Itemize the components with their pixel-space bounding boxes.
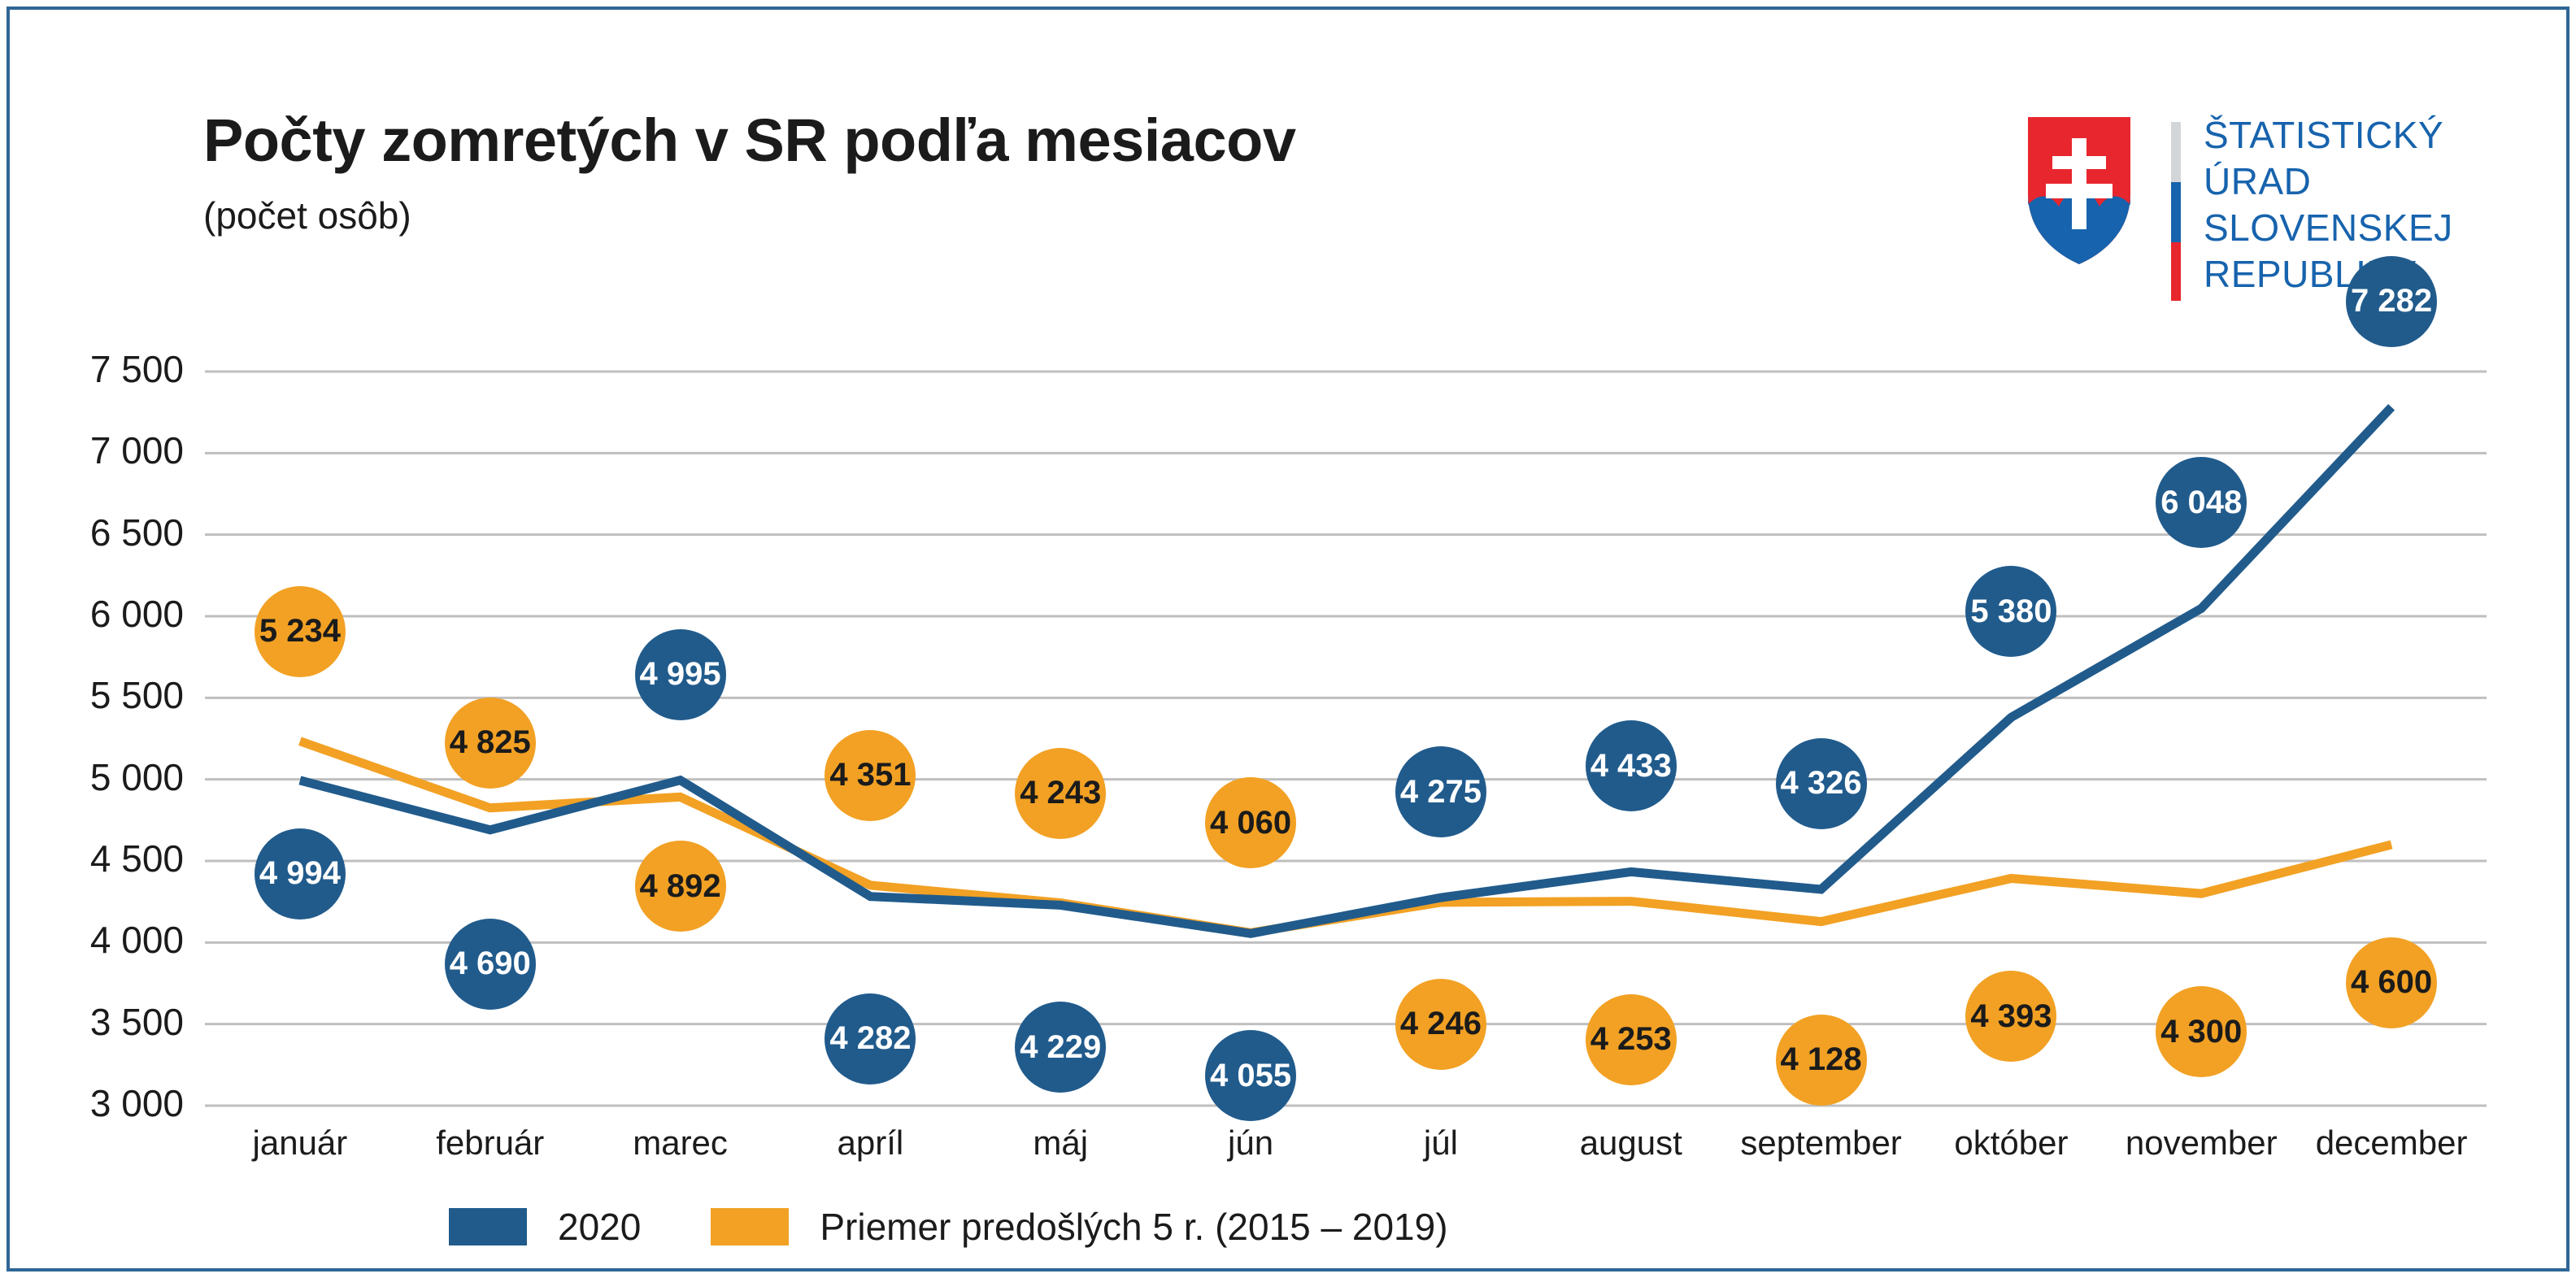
y-axis-tick-label: 5 500 [46, 673, 184, 717]
data-label-bubble: 6 048 [2156, 457, 2247, 548]
data-label-bubble: 4 825 [445, 698, 536, 789]
data-label-bubble: 4 351 [825, 730, 916, 821]
data-label-bubble: 4 243 [1015, 748, 1106, 839]
y-axis-tick-label: 5 000 [46, 755, 184, 799]
y-axis-tick-label: 7 500 [46, 347, 184, 391]
data-label-bubble: 4 994 [255, 828, 346, 919]
data-label-bubble: 7 282 [2346, 256, 2437, 347]
data-label-bubble: 4 253 [1586, 994, 1677, 1085]
legend-label: Priemer predošlých 5 r. (2015 – 2019) [820, 1205, 1447, 1249]
chart-frame: Počty zomretých v SR podľa mesiacov (poč… [7, 7, 2569, 1271]
data-label-bubble: 4 229 [1015, 1002, 1106, 1093]
data-label-bubble: 4 600 [2346, 937, 2437, 1028]
legend-item[interactable]: Priemer predošlých 5 r. (2015 – 2019) [711, 1205, 1517, 1249]
data-label-bubble: 4 995 [635, 629, 726, 720]
series-line-2020 [300, 407, 2391, 934]
data-label-bubble: 4 326 [1776, 738, 1867, 829]
y-axis-tick-label: 6 500 [46, 511, 184, 554]
data-label-bubble: 4 275 [1395, 746, 1486, 837]
y-axis-tick-label: 3 000 [46, 1081, 184, 1125]
legend-label: 2020 [558, 1205, 641, 1249]
data-label-bubble: 4 433 [1586, 720, 1677, 811]
data-label-bubble: 4 300 [2156, 986, 2247, 1077]
y-axis-tick-label: 7 000 [46, 428, 184, 472]
data-label-bubble: 5 380 [1965, 566, 2056, 657]
legend-item[interactable]: 2020 [449, 1205, 711, 1249]
y-axis-tick-label: 6 000 [46, 592, 184, 636]
chart-page: Počty zomretých v SR podľa mesiacov (poč… [0, 0, 2576, 1278]
data-label-bubble: 4 246 [1395, 979, 1486, 1070]
data-label-bubble: 4 128 [1776, 1015, 1867, 1106]
y-axis-tick-label: 4 500 [46, 837, 184, 880]
chart-legend: 2020Priemer predošlých 5 r. (2015 – 2019… [449, 1205, 1518, 1249]
data-label-bubble: 4 055 [1205, 1030, 1296, 1121]
x-axis-tick-label: december [2261, 1124, 2522, 1163]
data-label-bubble: 4 892 [635, 841, 726, 932]
series-line-average [300, 741, 2391, 933]
chart-plot-area: 3 0003 5004 0004 5005 0005 5006 0006 500… [10, 10, 2573, 1275]
legend-swatch [449, 1208, 527, 1245]
data-label-bubble: 5 234 [255, 586, 346, 677]
data-label-bubble: 4 060 [1205, 777, 1296, 868]
data-label-bubble: 4 690 [445, 919, 536, 1010]
data-label-bubble: 4 282 [825, 993, 916, 1085]
legend-swatch [711, 1208, 789, 1245]
y-axis-tick-label: 3 500 [46, 1000, 184, 1044]
y-axis-tick-label: 4 000 [46, 918, 184, 962]
